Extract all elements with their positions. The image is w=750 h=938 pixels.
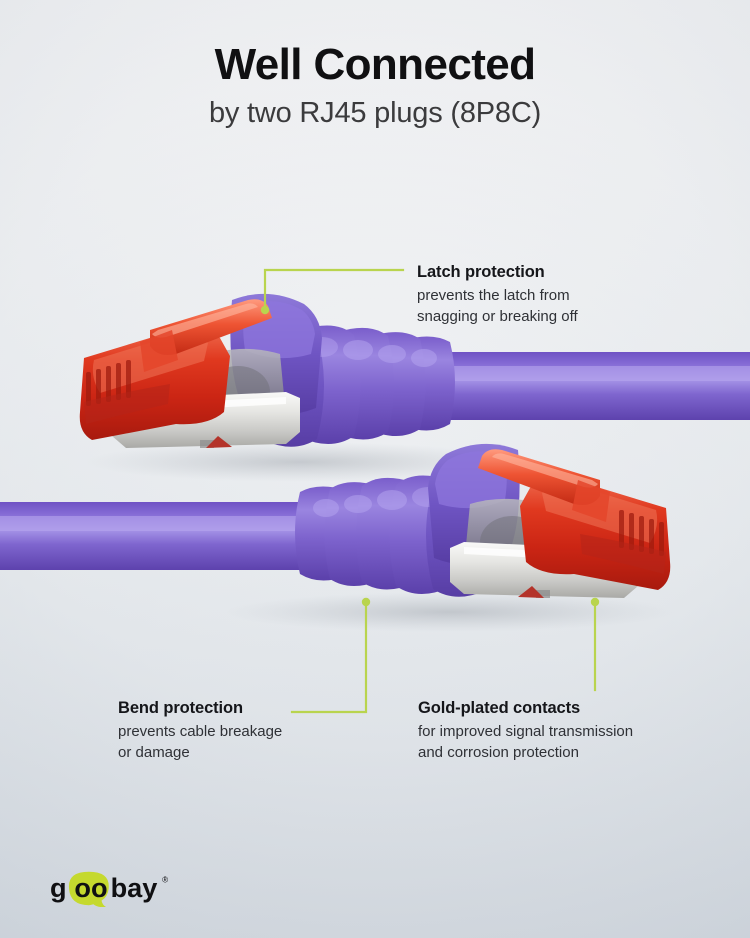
logo-text-bubble: oo — [74, 872, 107, 903]
callout-gold-plated-contacts: Gold-plated contacts for improved signal… — [418, 699, 633, 764]
callout-gold-line1: for improved signal transmission — [418, 721, 633, 742]
callout-latch-line2: snagging or breaking off — [417, 306, 578, 327]
logo-text-after: bay — [111, 872, 158, 903]
lower-cable — [0, 502, 335, 570]
upper-rj45-plug — [80, 294, 750, 448]
product-illustration — [0, 0, 750, 938]
infographic-page: Well Connected by two RJ45 plugs (8P8C) — [0, 0, 750, 938]
callout-latch-protection: Latch protection prevents the latch from… — [417, 263, 578, 328]
callout-latch-title: Latch protection — [417, 263, 578, 282]
logo-registered-mark: ® — [162, 876, 168, 885]
goobay-logo: g oo bay ® — [48, 869, 184, 909]
callout-bend-line1: prevents cable breakage — [118, 721, 282, 742]
callout-gold-line2: and corrosion protection — [418, 742, 633, 763]
callout-bend-title: Bend protection — [118, 699, 282, 718]
lower-plug-shadow — [225, 592, 675, 632]
callout-gold-title: Gold-plated contacts — [418, 699, 633, 718]
upper-cable — [415, 352, 750, 420]
logo-text-before: g — [50, 872, 67, 903]
callout-latch-line1: prevents the latch from — [417, 285, 578, 306]
callout-bend-line2: or damage — [118, 742, 282, 763]
callout-bend-protection: Bend protection prevents cable breakage … — [118, 699, 282, 764]
